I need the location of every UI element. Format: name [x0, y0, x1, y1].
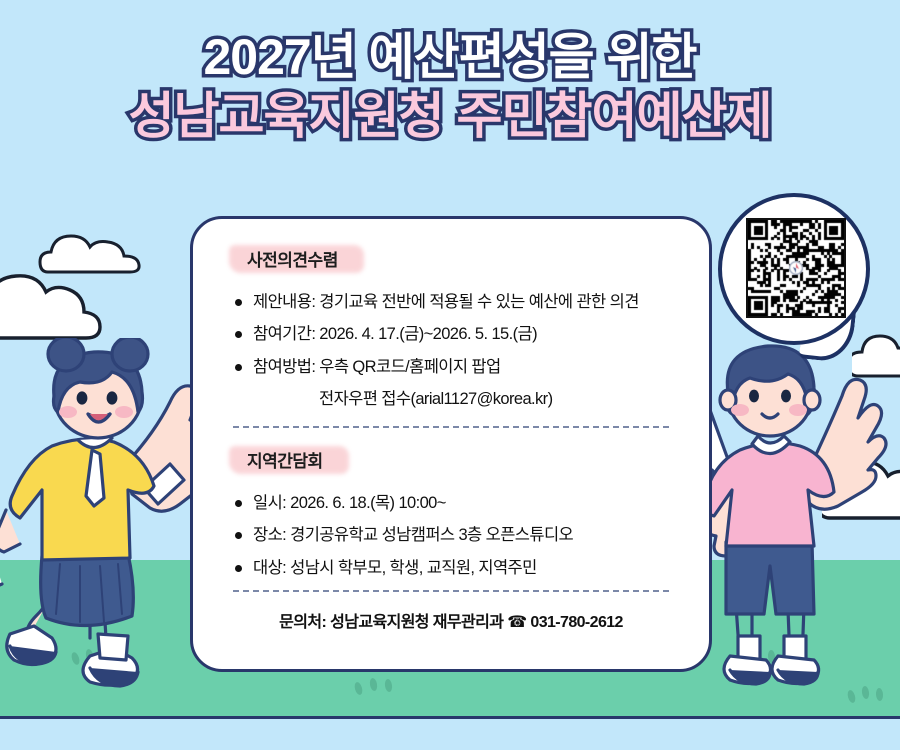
list-item-continuation: 전자우편 접수(arial1127@korea.kr) [319, 388, 683, 411]
section-heading-2-label: 지역간담회 [247, 452, 323, 471]
bottom-strip [0, 719, 900, 750]
title-line-2: 성남교육지원청 주민참여예산제 [0, 91, 900, 142]
contact-line: 문의처: 성남교육지원청 재무관리과 ☎ 031-780-2612 [219, 608, 683, 632]
list-item: 제안내용: 경기교육 전반에 적용될 수 있는 예산에 관한 의견 [233, 291, 683, 314]
section-heading-1: 사전의견수렴 [235, 243, 352, 275]
poster-root: 2027년 예산편성을 위한 성남교육지원청 주민참여예산제 [0, 0, 900, 750]
title-line-1: 2027년 예산편성을 위한 [0, 32, 900, 83]
qr-speech-bubble[interactable] [718, 193, 870, 345]
qr-code[interactable] [746, 218, 846, 318]
list-item: 일시: 2026. 6. 18.(목) 10:00~ [233, 492, 683, 515]
section-2-list: 일시: 2026. 6. 18.(목) 10:00~ 장소: 경기공유학교 성남… [219, 492, 683, 580]
section-heading-2: 지역간담회 [235, 444, 337, 476]
section-heading-1-label: 사전의견수렴 [247, 251, 338, 270]
list-item: 참여기간: 2026. 4. 17.(금)~2026. 5. 15.(금) [233, 323, 683, 346]
section-divider-1 [233, 426, 669, 428]
list-item: 대상: 성남시 학부모, 학생, 교직원, 지역주민 [233, 557, 683, 580]
list-item: 장소: 경기공유학교 성남캠퍼스 3층 오픈스튜디오 [233, 524, 683, 547]
info-card: 사전의견수렴 제안내용: 경기교육 전반에 적용될 수 있는 예산에 관한 의견… [190, 216, 712, 672]
section-divider-2 [233, 590, 669, 592]
section-1-list: 제안내용: 경기교육 전반에 적용될 수 있는 예산에 관한 의견 참여기간: … [219, 291, 683, 412]
list-item: 참여방법: 우측 QR코드/홈페이지 팝업 [233, 356, 683, 379]
poster-title: 2027년 예산편성을 위한 성남교육지원청 주민참여예산제 [0, 32, 900, 142]
